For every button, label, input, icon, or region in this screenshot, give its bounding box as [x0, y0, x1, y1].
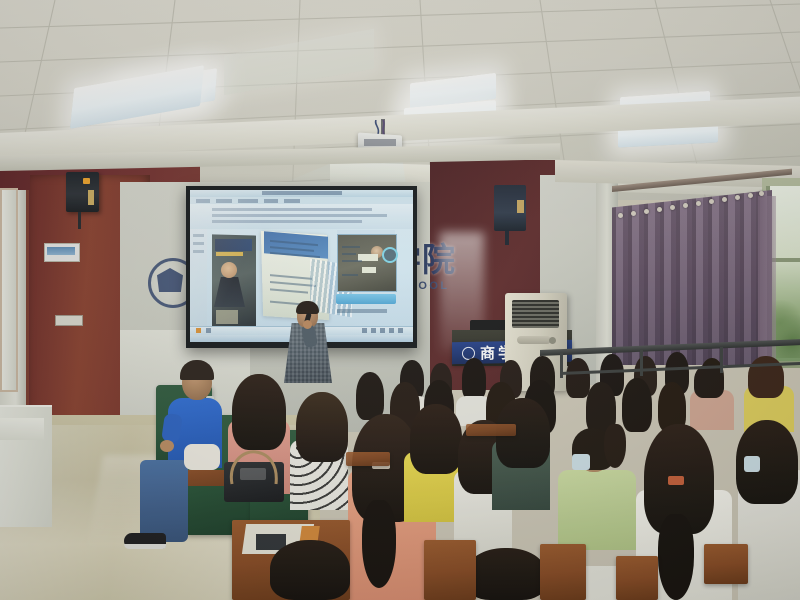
face-mask	[572, 454, 590, 470]
tray-icon[interactable]	[371, 328, 376, 333]
wall-plaque-insert	[47, 247, 75, 255]
row-desk	[540, 544, 586, 600]
ribbon-control-row	[212, 208, 372, 211]
air-conditioner-logo-icon	[549, 337, 556, 344]
curtain-grommet-icon	[618, 213, 623, 218]
slide-portrait-caption	[216, 310, 238, 324]
lecture-hall-photo: 学院 SCHOOL	[0, 0, 800, 600]
curtain-grommet-icon	[683, 203, 688, 208]
projected-menu-item[interactable]	[216, 199, 232, 203]
curtain-grommet-icon	[670, 205, 675, 210]
tray-icon[interactable]	[362, 328, 367, 333]
presenter-hand	[303, 320, 312, 329]
wall-sign-small	[55, 315, 83, 326]
audience-person-hair	[296, 392, 348, 462]
railing-post	[560, 352, 563, 378]
air-conditioner-control-panel[interactable]	[517, 336, 551, 344]
air-conditioner-vent-icon	[512, 300, 559, 328]
whiteboard-left	[0, 188, 18, 392]
taskbar-start-icon[interactable]	[196, 328, 201, 333]
sidebar-row	[193, 250, 204, 253]
tray-icon[interactable]	[380, 328, 385, 333]
side-cabinet-drawer[interactable]	[0, 418, 44, 440]
audience-ponytail	[658, 514, 694, 600]
audience-person	[462, 358, 486, 400]
railing-post	[640, 350, 643, 376]
row-desk	[616, 556, 658, 600]
audience-person	[622, 378, 652, 432]
slide-portrait-face	[221, 262, 237, 278]
slide-text-line	[342, 246, 360, 248]
row-desk	[466, 424, 516, 436]
curtain-grommet-icon	[696, 201, 701, 206]
curtain-grommet-icon	[631, 211, 636, 216]
taskbar-app-icon[interactable]	[206, 328, 211, 333]
speaker-mount-stem	[78, 212, 81, 229]
man-in-blue-polo-hand	[160, 440, 174, 452]
window-curtain[interactable]	[612, 190, 772, 365]
audience-person-hair	[232, 374, 286, 450]
curtain-grommet-icon	[759, 191, 764, 196]
curtain-grommet-icon	[644, 209, 649, 214]
curtain-grommet-icon	[657, 207, 662, 212]
hair-clip	[668, 476, 684, 485]
row-desk	[346, 452, 390, 466]
speaker-mount-stem	[505, 231, 509, 245]
speaker-indicator-led-icon	[83, 178, 90, 184]
slide-portrait-subtitle-band	[216, 252, 243, 256]
slide-footer-caption	[337, 309, 387, 313]
curtain-grommet-icon	[722, 197, 727, 202]
row-desk	[704, 544, 748, 584]
curtain-grommet-icon	[735, 195, 740, 200]
projected-menu-item[interactable]	[284, 199, 300, 203]
speaker-tag	[88, 190, 94, 205]
slide-action-button[interactable]	[336, 294, 396, 304]
audience-person-hair	[466, 548, 546, 600]
face-mask	[744, 456, 760, 472]
handbag-strap-icon	[222, 446, 286, 486]
man-in-blue-polo-legs	[140, 460, 188, 542]
slide-text-line	[342, 274, 358, 276]
projector-label	[364, 139, 396, 146]
white-jacket	[184, 444, 220, 470]
tray-icon[interactable]	[398, 328, 403, 333]
audience-person-hair	[410, 404, 462, 474]
slide-text-line	[342, 253, 356, 255]
curtain-grommet-icon	[748, 193, 753, 198]
speaker-tag	[517, 200, 524, 213]
slide-text-line	[342, 260, 362, 262]
audience-ponytail	[604, 424, 626, 468]
curtain-grommet-icon	[709, 199, 714, 204]
row-desk	[424, 540, 476, 600]
audience-person	[566, 358, 590, 398]
projected-window-title	[262, 191, 342, 195]
slide-profile-card	[337, 234, 397, 292]
tray-icon[interactable]	[389, 328, 394, 333]
handbag-print	[240, 468, 266, 480]
slide-profile-tag	[362, 267, 376, 273]
window-outside-foliage	[772, 300, 800, 358]
audience-ponytail	[362, 500, 396, 588]
projected-menu-item[interactable]	[196, 199, 210, 203]
projected-menu-item[interactable]	[238, 199, 258, 203]
projected-menu-item[interactable]	[264, 199, 278, 203]
slide-profile-badge-icon	[382, 247, 398, 263]
ribbon-control-row	[212, 220, 362, 223]
shoe-sole	[124, 544, 166, 549]
audience-person	[356, 372, 384, 420]
audience-person-hair	[270, 540, 350, 600]
railing-post	[720, 347, 723, 373]
sidebar-row	[193, 234, 204, 237]
slide-portrait-title-band	[215, 239, 252, 251]
ribbon-control-row	[212, 214, 387, 217]
sidebar-row	[193, 242, 204, 245]
audience-person-torso	[558, 470, 636, 550]
